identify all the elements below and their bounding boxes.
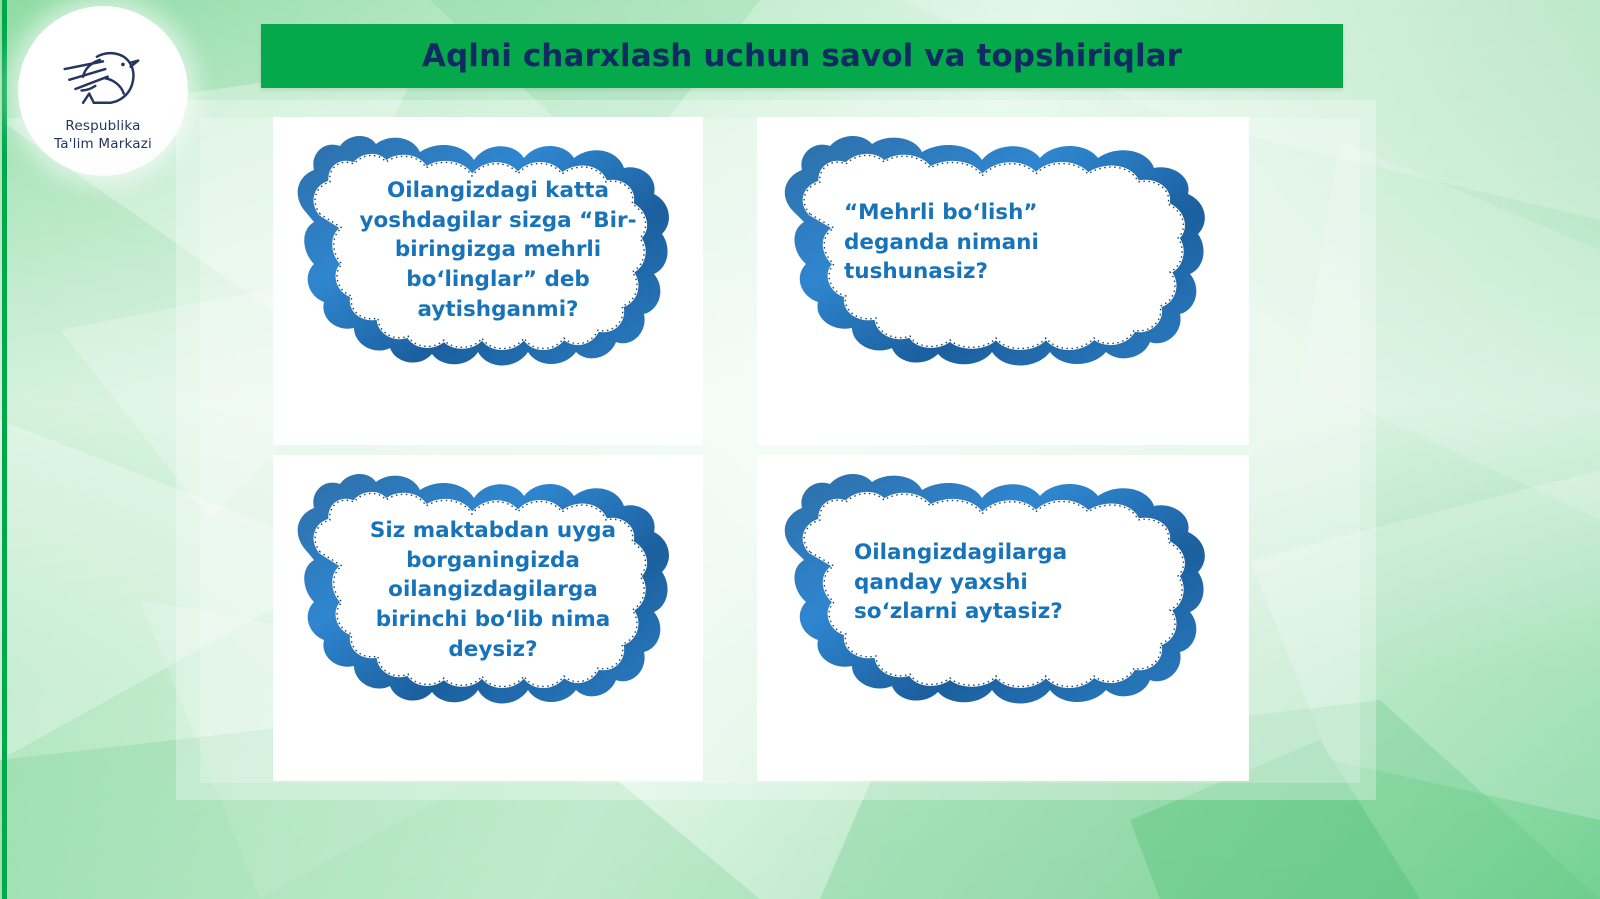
question-card-2[interactable]: “Mehrli bo‘lish” deganda nimani tushunas… [758, 118, 1248, 444]
question-text-1: Oilangizdagi katta yoshdagilar sizga “Bi… [346, 176, 650, 324]
logo-line-2: Ta'lim Markazi [54, 136, 152, 154]
question-card-1[interactable]: Oilangizdagi katta yoshdagilar sizga “Bi… [274, 118, 702, 444]
page-title: Aqlni charxlash uchun savol va topshiriq… [422, 38, 1182, 74]
question-text-2: “Mehrli bo‘lish” deganda nimani tushunas… [844, 198, 1178, 287]
logo-line-1: Respublika [54, 118, 152, 136]
question-text-4: Oilangizdagilarga qanday yaxshi so‘zlarn… [854, 538, 1178, 627]
question-card-3[interactable]: Siz maktabdan uyga borganingizda oilangi… [274, 456, 702, 780]
slide-canvas: Respublika Ta'lim Markazi Aqlni charxlas… [0, 0, 1600, 899]
logo-caption: Respublika Ta'lim Markazi [54, 118, 152, 154]
organization-logo: Respublika Ta'lim Markazi [18, 6, 188, 176]
question-card-grid: Oilangizdagi katta yoshdagilar sizga “Bi… [274, 118, 1248, 800]
question-card-4[interactable]: Oilangizdagilarga qanday yaxshi so‘zlarn… [758, 456, 1248, 780]
dove-icon [57, 46, 149, 112]
left-edge-stripe [2, 0, 7, 899]
question-text-3: Siz maktabdan uyga borganingizda oilangi… [340, 516, 646, 664]
title-banner: Aqlni charxlash uchun savol va topshiriq… [261, 24, 1343, 88]
